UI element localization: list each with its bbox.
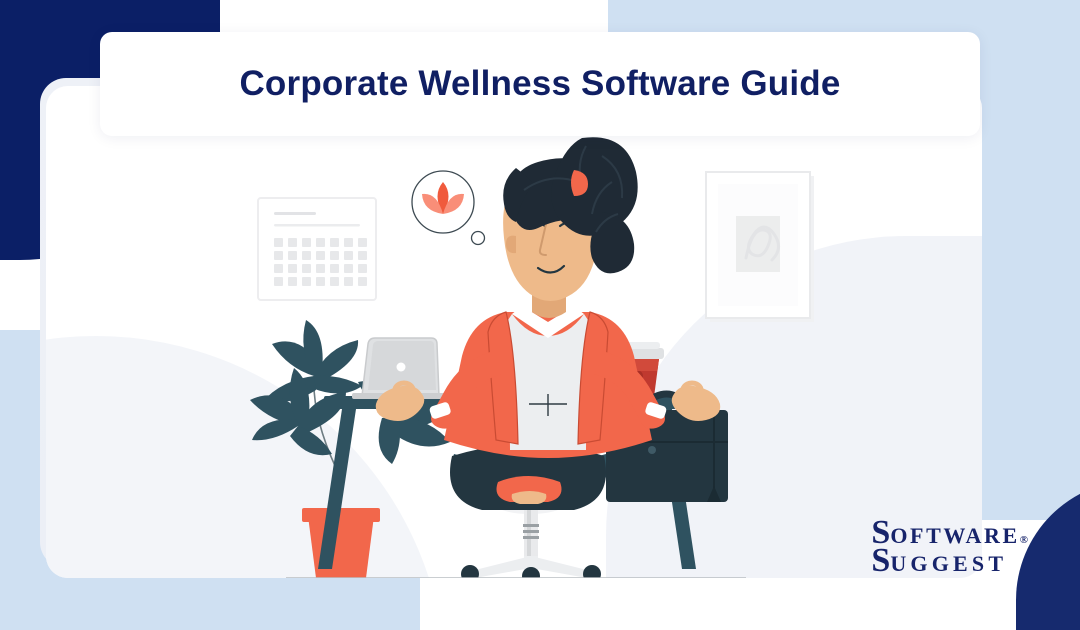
- poster-canvas: Corporate Wellness Software Guide S OFTW…: [0, 0, 1080, 630]
- softwaresuggest-logo[interactable]: S OFTWARE ® S UGGEST: [871, 516, 1028, 578]
- logo-word-suggest: UGGEST: [890, 553, 1007, 575]
- hero-illustration: [46, 86, 982, 578]
- registered-trademark-icon: ®: [1020, 535, 1028, 546]
- thought-bubble-lotus-icon: [412, 171, 485, 245]
- logo-word-software: OFTWARE: [890, 525, 1019, 547]
- logo-line-1: S OFTWARE ®: [871, 516, 1028, 550]
- wall-calendar-icon: [258, 198, 376, 300]
- logo-line-2: S UGGEST: [871, 544, 1028, 578]
- logo-capital-s-bottom: S: [871, 544, 890, 578]
- framed-picture-icon: [706, 172, 814, 322]
- page-title: Corporate Wellness Software Guide: [239, 64, 840, 104]
- title-card: Corporate Wellness Software Guide: [100, 32, 980, 136]
